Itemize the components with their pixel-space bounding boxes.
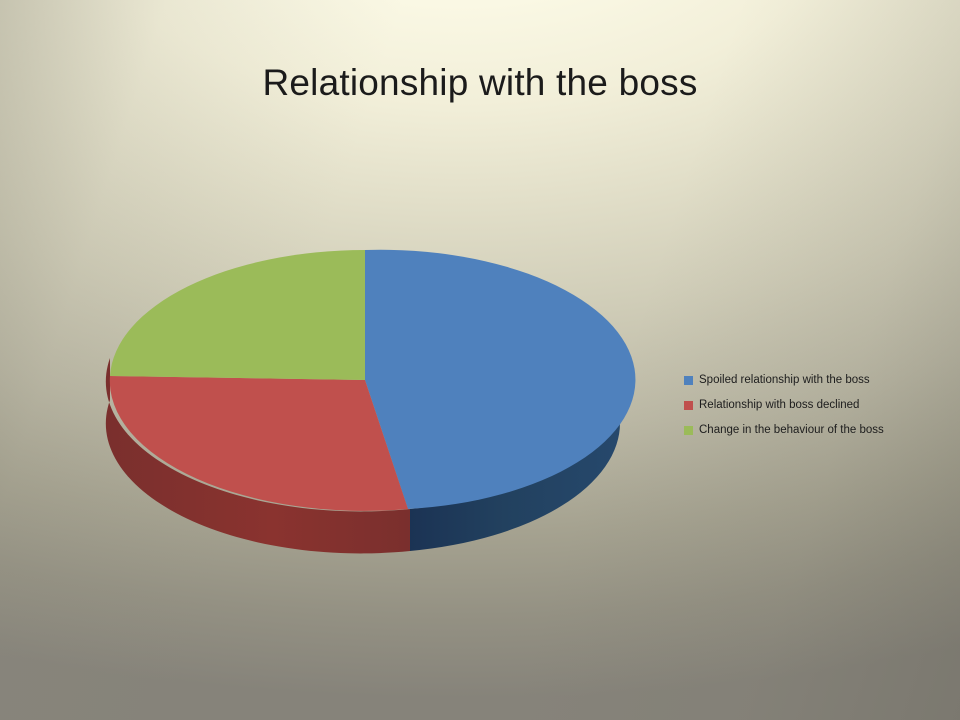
legend-swatch-blue-icon: [684, 376, 693, 385]
legend-item-spoiled-relationship[interactable]: Spoiled relationship with the boss: [684, 368, 884, 393]
legend-item-relationship-declined[interactable]: Relationship with boss declined: [684, 393, 884, 418]
legend-label: Spoiled relationship with the boss: [699, 375, 870, 387]
legend-swatch-green-icon: [684, 426, 693, 435]
chart-legend: Spoiled relationship with the boss Relat…: [684, 368, 884, 443]
legend-swatch-red-icon: [684, 401, 693, 410]
presentation-slide: Relationship with the boss: [0, 0, 960, 720]
legend-item-change-in-behaviour[interactable]: Change in the behaviour of the boss: [684, 418, 884, 443]
pie-slice-tops: [110, 250, 636, 511]
legend-label: Relationship with boss declined: [699, 400, 859, 412]
legend-label: Change in the behaviour of the boss: [699, 425, 884, 437]
page-title: Relationship with the boss: [0, 62, 960, 104]
pie-slice-change-in-behaviour[interactable]: [110, 250, 365, 380]
pie-chart-3d: [60, 210, 680, 600]
